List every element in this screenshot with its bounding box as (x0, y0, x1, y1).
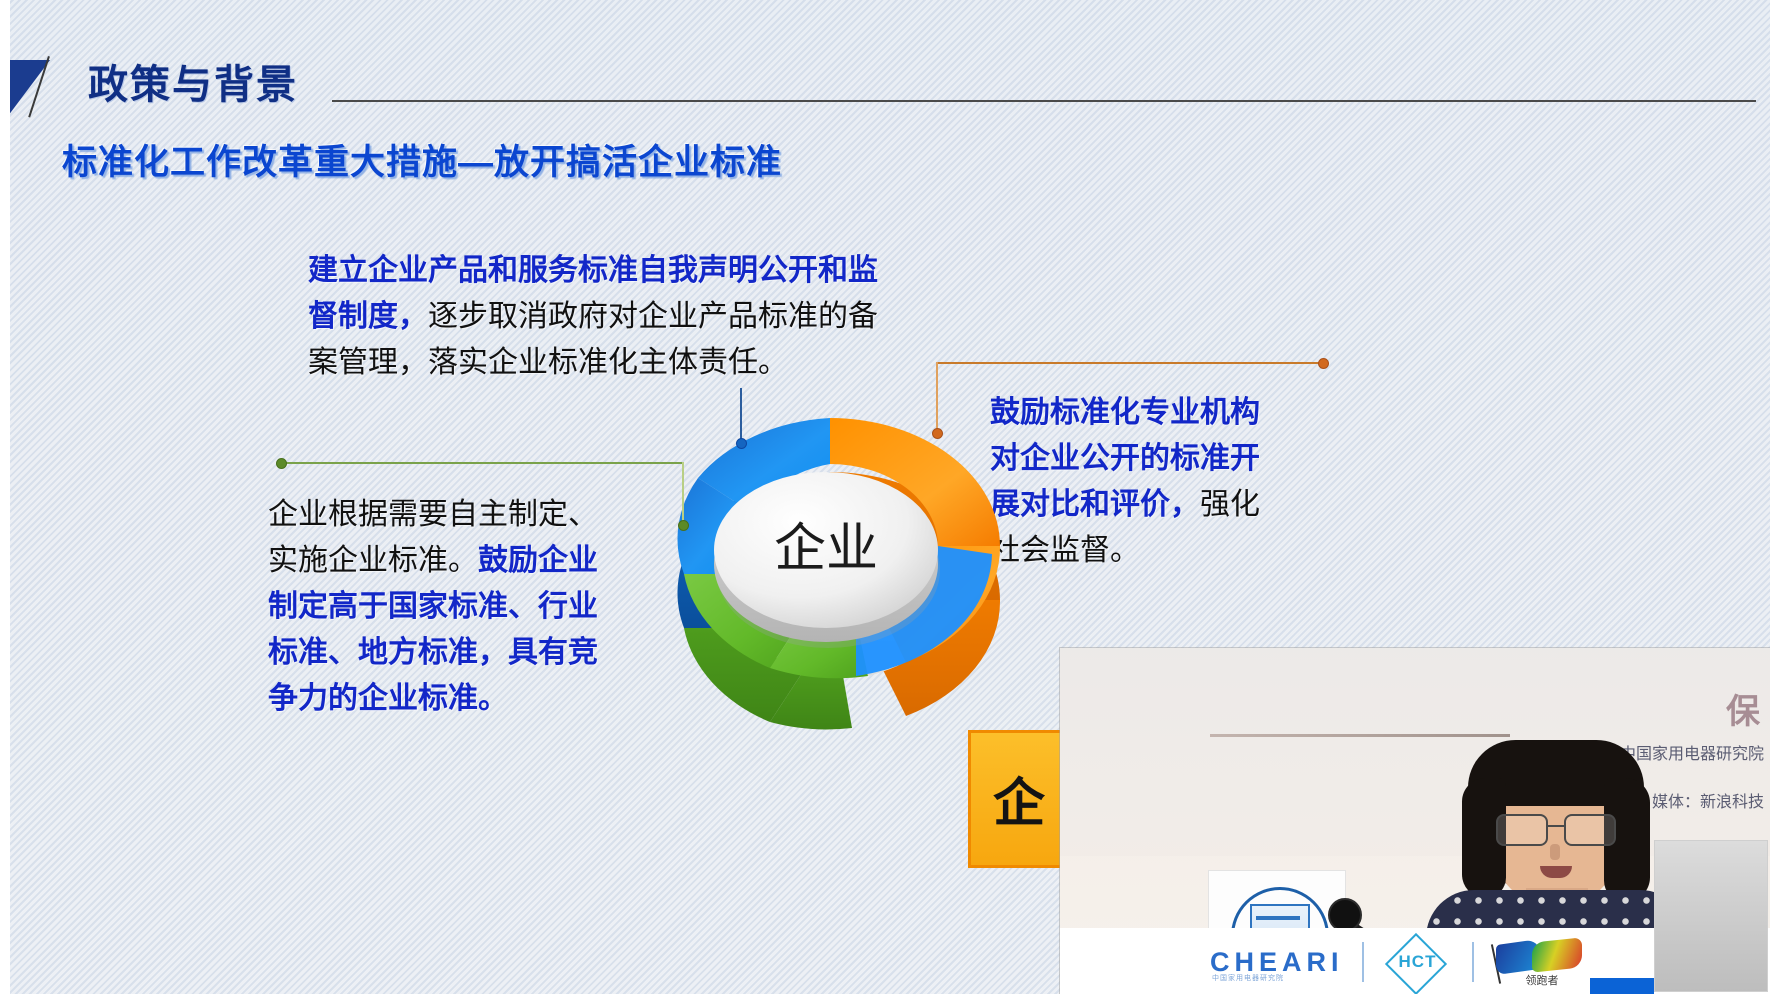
slide-subtitle: 标准化工作改革重大措施—放开搞活企业标准 (62, 134, 782, 185)
glasses-icon (1494, 814, 1618, 844)
leader-flag-logo-text: 领跑者 (1526, 972, 1559, 988)
left-line-2-black: 实施企业标准。 (268, 544, 478, 577)
slide-header: 政策与背景 (0, 48, 1780, 118)
banner-rule (1210, 734, 1510, 737)
frame-edge-left (0, 0, 10, 1000)
speaker-video-overlay[interactable]: 保 单位：中国家用电器研究院 媒体：新浪科技 CHINA (1060, 648, 1772, 994)
leader-flag-logo: 领跑者 (1492, 938, 1588, 986)
logo-divider-2 (1472, 942, 1474, 982)
cheari-logo: CHEARI 中国家用电器研究院 (1210, 947, 1344, 978)
title-divider (332, 100, 1756, 102)
frame-edge-bottom (0, 994, 1780, 1000)
logo-divider-1 (1362, 942, 1364, 982)
left-line-2-blue: 鼓励企业 (478, 544, 598, 577)
side-panel (1654, 840, 1768, 992)
presentation-slide: 政策与背景 标准化工作改革重大措施—放开搞活企业标准 (0, 0, 1780, 1000)
top-line-2-black: 逐步取消政府对企业产品标准的备 (428, 300, 878, 333)
orange-card-label: 企 (993, 761, 1047, 836)
top-connector (700, 388, 760, 450)
top-text-block: 建立企业产品和服务标准自我声明公开和监 督制度，逐步取消政府对企业产品标准的备 … (308, 248, 968, 386)
right-line-3-black: 强化 (1200, 488, 1260, 521)
right-connector (934, 362, 1324, 442)
banner-headline: 保 (1726, 684, 1762, 733)
left-line-5-blue: 争力的企业标准。 (268, 682, 508, 715)
ring-center-label: 企业 (774, 520, 878, 578)
hct-logo: HCT (1382, 940, 1454, 984)
left-connector (272, 462, 692, 534)
top-line-3-black: 案管理，落实企业标准化主体责任。 (308, 346, 788, 379)
page-title: 政策与背景 (88, 52, 298, 110)
top-line-2-blue: 督制度， (308, 300, 428, 333)
frame-edge-right (1770, 0, 1780, 1000)
video-logo-bar: CHEARI 中国家用电器研究院 HCT 领跑者 (1060, 928, 1772, 994)
left-line-4-blue: 标准、地方标准，具有竞 (268, 636, 598, 669)
hct-logo-text: HCT (1382, 952, 1454, 972)
blue-progress-tick (1590, 978, 1654, 994)
top-line-1-blue: 建立企业产品和服务标准自我声明公开和监 (308, 254, 878, 287)
left-line-3-blue: 制定高于国家标准、行业 (268, 590, 598, 623)
cheari-logo-sub: 中国家用电器研究院 (1212, 973, 1284, 983)
header-decoration-icon (8, 60, 68, 116)
